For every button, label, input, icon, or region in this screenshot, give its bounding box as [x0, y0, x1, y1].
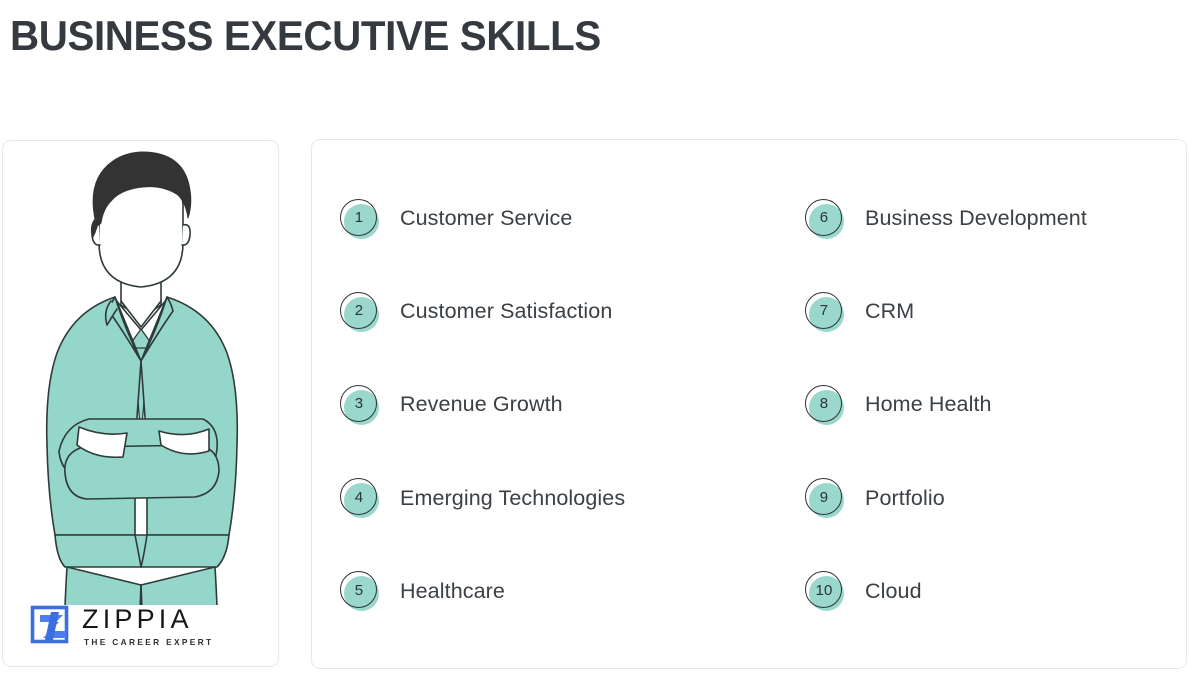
badge-number: 8 — [805, 385, 843, 423]
badge-number: 3 — [340, 385, 378, 423]
page-title: BUSINESS EXECUTIVE SKILLS — [10, 12, 601, 59]
badge-number: 7 — [805, 292, 843, 330]
skill-number-badge: 2 — [340, 292, 380, 332]
skill-label: Healthcare — [400, 579, 505, 604]
zippia-logo[interactable]: ZIPPIA THE CAREER EXPERT — [29, 604, 213, 648]
badge-number: 5 — [340, 571, 378, 609]
skill-item-3[interactable]: 3 Revenue Growth — [312, 358, 767, 451]
skill-label: CRM — [865, 299, 914, 324]
skill-number-badge: 9 — [805, 478, 845, 518]
skill-label: Customer Service — [400, 206, 572, 231]
skill-item-7[interactable]: 7 CRM — [767, 265, 1186, 358]
skill-number-badge: 8 — [805, 385, 845, 425]
skill-item-1[interactable]: 1 Customer Service — [312, 172, 767, 265]
badge-number: 2 — [340, 292, 378, 330]
badge-number: 6 — [805, 199, 843, 237]
skill-number-badge: 10 — [805, 571, 845, 611]
skills-card: 1 Customer Service 6 Business Developmen… — [311, 139, 1187, 669]
zippia-z-mark — [29, 604, 73, 648]
skill-item-5[interactable]: 5 Healthcare — [312, 545, 767, 638]
illustration-card: ZIPPIA THE CAREER EXPERT — [2, 140, 279, 667]
skills-grid: 1 Customer Service 6 Business Developmen… — [312, 140, 1186, 668]
skill-item-9[interactable]: 9 Portfolio — [767, 452, 1186, 545]
skill-number-badge: 7 — [805, 292, 845, 332]
skill-item-6[interactable]: 6 Business Development — [767, 172, 1186, 265]
skill-number-badge: 1 — [340, 199, 380, 239]
skill-item-2[interactable]: 2 Customer Satisfaction — [312, 265, 767, 358]
logo-wordmark: ZIPPIA — [82, 606, 213, 633]
skill-label: Customer Satisfaction — [400, 299, 612, 324]
skill-item-8[interactable]: 8 Home Health — [767, 358, 1186, 451]
skill-item-4[interactable]: 4 Emerging Technologies — [312, 452, 767, 545]
skill-number-badge: 4 — [340, 478, 380, 518]
skill-item-10[interactable]: 10 Cloud — [767, 545, 1186, 638]
badge-number: 10 — [805, 571, 843, 609]
skill-number-badge: 6 — [805, 199, 845, 239]
logo-tagline: THE CAREER EXPERT — [84, 638, 213, 646]
skill-label: Emerging Technologies — [400, 486, 625, 511]
skill-label: Business Development — [865, 206, 1087, 231]
badge-number: 1 — [340, 199, 378, 237]
skill-number-badge: 5 — [340, 571, 380, 611]
skill-label: Home Health — [865, 392, 992, 417]
skill-number-badge: 3 — [340, 385, 380, 425]
skill-label: Portfolio — [865, 486, 945, 511]
badge-number: 9 — [805, 478, 843, 516]
badge-number: 4 — [340, 478, 378, 516]
skill-label: Cloud — [865, 579, 922, 604]
business-executive-illustration — [3, 115, 280, 605]
skill-label: Revenue Growth — [400, 392, 563, 417]
